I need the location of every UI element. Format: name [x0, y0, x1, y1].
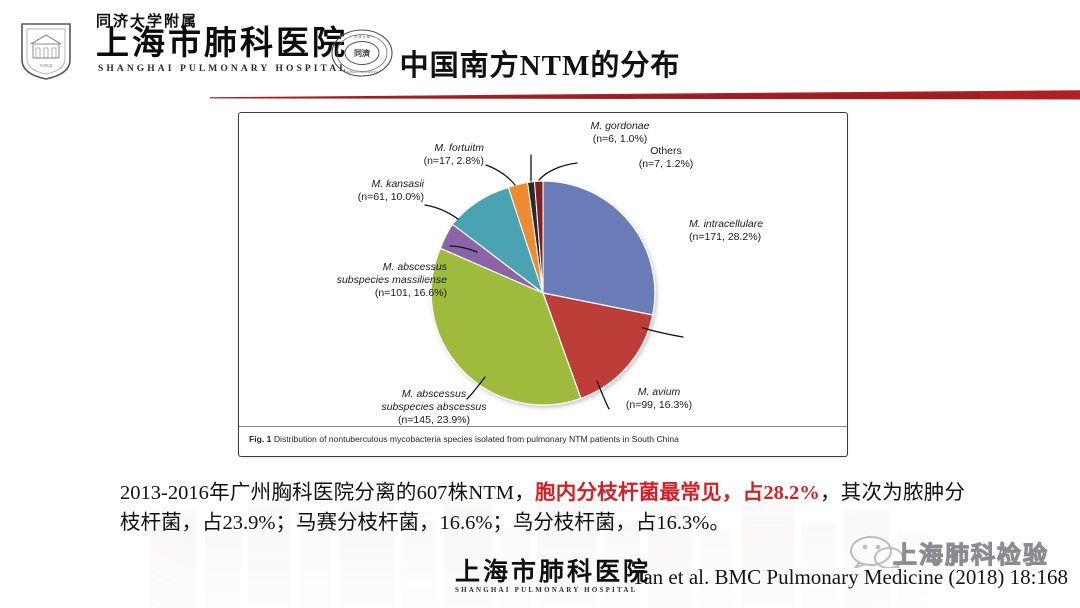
footer-hospital-name-cn: 上海市肺科医院: [455, 560, 655, 585]
slide-header: TONGJI 同济大学附属 上海市肺科医院 SHANGHAI PULMONARY…: [0, 0, 1080, 100]
pie-label-m-intracellulare: M. intracellulare (n=171, 28.2%): [689, 218, 849, 244]
pie-label-m-kansasii: M. kansasii (n=61, 10.0%): [284, 178, 424, 204]
footer-hospital-name-en: SHANGHAI PULMONARY HOSPITAL: [455, 586, 655, 594]
slice-m-intracellulare: [543, 181, 655, 315]
pie-label-others: Others (n=7, 1.2%): [601, 145, 731, 171]
summary-highlight: 胞内分枝杆菌最常见，占28.2%: [535, 482, 820, 504]
pie-label-m-fortuitm: M. fortuitm (n=17, 2.8%): [339, 142, 484, 168]
pie-label-m-abscessus-abscessus: M. abscessus subspecies abscessus (n=145…: [339, 388, 529, 427]
footer-hospital-logo: 上海市肺科医院 SHANGHAI PULMONARY HOSPITAL: [455, 560, 655, 594]
figure-panel: M. gordonae (n=6, 1.0%) Others (n=7, 1.2…: [238, 112, 848, 457]
wechat-account-watermark: 上海肺科检验: [893, 535, 1049, 570]
figure-caption-prefix: Fig. 1: [249, 434, 271, 444]
figure-caption: Fig. 1 Distribution of nontuberculous my…: [239, 426, 847, 456]
figure-caption-text: Distribution of nontuberculous mycobacte…: [274, 434, 679, 444]
svg-text:同 濟 大 學: 同 濟 大 學: [354, 34, 371, 39]
page-title: 中国南方NTM的分布: [0, 42, 1080, 84]
pie-chart-area: M. gordonae (n=6, 1.0%) Others (n=7, 1.2…: [239, 113, 847, 423]
title-accent-rule: [0, 88, 1080, 102]
summary-part-2: ，其次: [820, 482, 883, 504]
pie-label-m-abscessus-massiliense: M. abscessus subspecies massiliense (n=1…: [239, 261, 447, 300]
pie-label-m-gordonae: M. gordonae (n=6, 1.0%): [555, 120, 685, 146]
summary-paragraph: 2013-2016年广州胸科医院分离的607株NTM，胞内分枝杆菌最常见，占28…: [120, 478, 965, 538]
summary-part-1: 2013-2016年广州胸科医院分离的607株NTM，: [120, 482, 535, 504]
pie-label-m-avium: M. avium (n=99, 16.3%): [584, 386, 734, 412]
pie-slices: [431, 181, 655, 405]
